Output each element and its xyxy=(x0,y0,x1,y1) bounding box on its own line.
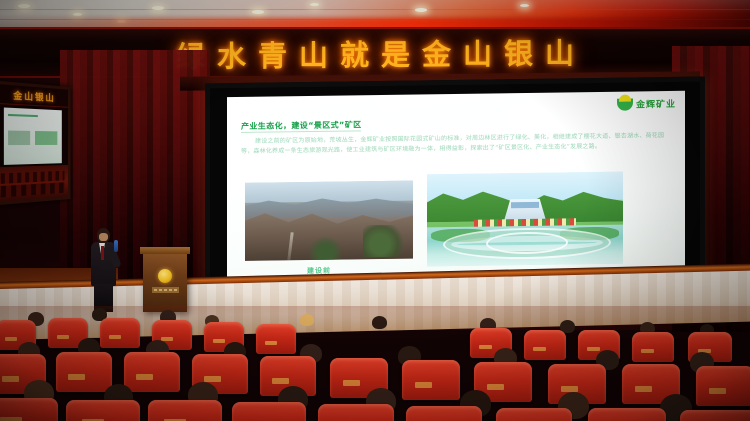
auditorium-seat xyxy=(148,400,222,421)
company-logo: 金辉矿业 xyxy=(617,97,676,111)
auditorium-seat xyxy=(318,404,394,421)
side-monitor-audience-view xyxy=(0,165,68,202)
auditorium-seat xyxy=(406,406,482,421)
side-monitor-banner-text: 金山银山 xyxy=(13,88,55,104)
auditorium-seat xyxy=(588,408,666,421)
audience-head xyxy=(372,316,387,329)
auditorium-seat xyxy=(100,318,140,348)
lectern-nameplate xyxy=(152,287,179,293)
side-wall-monitor: 金山银山 xyxy=(0,81,71,206)
led-banner-text: 绿水青山就是金山银山 xyxy=(164,30,586,76)
auditorium-seat xyxy=(256,324,296,354)
logo-text: 金辉矿业 xyxy=(636,97,676,111)
auditorium-seat xyxy=(56,352,112,392)
auditorium-seat xyxy=(680,410,750,421)
auditorium-seat xyxy=(696,366,750,406)
logo-mark-icon xyxy=(617,98,633,110)
slide-body-text: 建设之前的矿区为原始地，荒坡丛生，金辉矿业按照国际花园式矿山的标准，对周边林区进… xyxy=(241,131,671,157)
before-construction-photo xyxy=(245,181,413,261)
auditorium-seat xyxy=(232,402,306,421)
auditorium-seat xyxy=(0,398,58,421)
auditorium-seat xyxy=(124,352,180,392)
lectern-emblem-icon xyxy=(158,269,172,283)
side-monitor-slide xyxy=(4,107,62,164)
lectern xyxy=(143,252,187,312)
audience-area xyxy=(0,306,750,421)
side-monitor-banner: 金山银山 xyxy=(0,84,68,108)
audience-head xyxy=(300,314,314,326)
auditorium-seat xyxy=(524,330,566,360)
after-construction-photo xyxy=(427,172,623,267)
presenter xyxy=(88,228,118,312)
microphone-icon xyxy=(114,240,118,252)
auditorium-seat xyxy=(402,360,460,400)
auditorium-seat xyxy=(66,400,140,421)
auditorium-seat xyxy=(496,408,572,421)
presentation-slide: 金辉矿业 产业生态化，建设“景区式”矿区 建设之前的矿区为原始地，荒坡丛生，金辉… xyxy=(227,91,685,291)
auditorium-seat xyxy=(632,332,674,362)
auditorium-scene: 绿水青山就是金山银山 金山银山 金辉矿业 产业生态化，建设“景区式”矿区 建设之… xyxy=(0,0,750,421)
